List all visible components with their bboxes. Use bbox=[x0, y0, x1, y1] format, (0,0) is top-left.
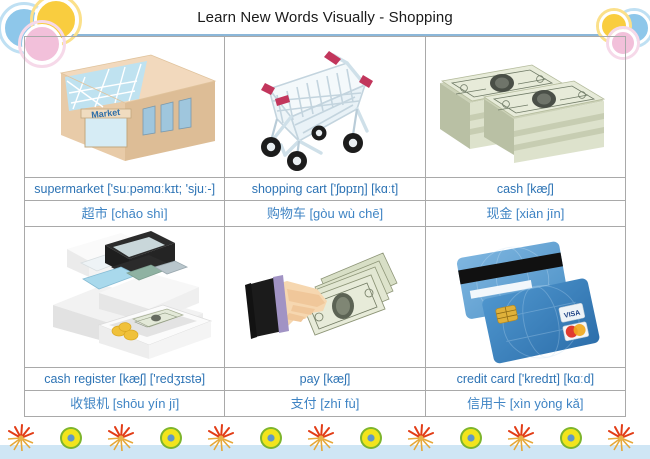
daisy-flower-icon bbox=[256, 424, 286, 452]
starburst-flower-icon bbox=[506, 424, 536, 452]
card-pinyin-cell: 收银机 [shōu yín jī] bbox=[25, 391, 225, 417]
page-header: Learn New Words Visually - Shopping bbox=[0, 0, 650, 36]
word-label: supermarket ['suːpəmɑːkɪt; 'sjuː-] bbox=[25, 179, 224, 199]
card-image-cell-cash[interactable] bbox=[425, 37, 625, 178]
starburst-flower-icon bbox=[606, 424, 636, 452]
hand-paying-cash-icon bbox=[225, 227, 424, 367]
daisy-flower-icon bbox=[356, 424, 386, 452]
pinyin-label: 现金 [xiàn jīn] bbox=[426, 203, 625, 225]
starburst-flower-icon bbox=[306, 424, 336, 452]
card-word-cell: cash register [kæʃ] ['redʒɪstə] bbox=[25, 368, 225, 391]
card-word-cell: shopping cart ['ʃɒpɪŋ] [kɑːt] bbox=[225, 178, 425, 201]
card-pinyin-cell: 超市 [chāo shì] bbox=[25, 201, 225, 227]
word-label: pay [kæʃ] bbox=[225, 369, 424, 389]
pinyin-label: 信用卡 [xìn yòng kǎ] bbox=[426, 393, 625, 415]
pinyin-label: 超市 [chāo shì] bbox=[25, 203, 224, 225]
page-title: Learn New Words Visually - Shopping bbox=[0, 9, 650, 26]
starburst-flower-icon bbox=[406, 424, 436, 452]
worksheet-page: Learn New Words Visually - Shopping bbox=[0, 0, 650, 459]
card-pinyin-cell: 现金 [xiàn jīn] bbox=[425, 201, 625, 227]
starburst-flower-icon bbox=[6, 424, 36, 452]
card-word-cell: credit card ['kredɪt] [kɑːd] bbox=[425, 368, 625, 391]
card-image-cell-pay[interactable] bbox=[225, 227, 425, 368]
pinyin-label: 支付 [zhī fù] bbox=[225, 393, 424, 415]
word-label: credit card ['kredɪt] [kɑːd] bbox=[426, 369, 625, 389]
credit-cards-icon: VISA bbox=[426, 227, 625, 367]
starburst-flower-icon bbox=[206, 424, 236, 452]
table-row: cash register [kæʃ] ['redʒɪstə] pay [kæʃ… bbox=[25, 368, 626, 391]
shopping-cart-icon bbox=[225, 37, 424, 177]
card-image-cell-shopping-cart[interactable] bbox=[225, 37, 425, 178]
supermarket-building-icon: Market bbox=[25, 37, 224, 177]
decorative-footer-band bbox=[0, 422, 650, 459]
daisy-flower-icon bbox=[156, 424, 186, 452]
daisy-flower-icon bbox=[456, 424, 486, 452]
card-pinyin-cell: 购物车 [gòu wù chē] bbox=[225, 201, 425, 227]
card-image-cell-credit-card[interactable]: VISA bbox=[425, 227, 625, 368]
table-row: supermarket ['suːpəmɑːkɪt; 'sjuː-] shopp… bbox=[25, 178, 626, 201]
card-image-cell-cash-register[interactable] bbox=[25, 227, 225, 368]
pinyin-label: 收银机 [shōu yín jī] bbox=[25, 393, 224, 415]
card-pinyin-cell: 信用卡 [xìn yòng kǎ] bbox=[425, 391, 625, 417]
card-pinyin-cell: 支付 [zhī fù] bbox=[225, 391, 425, 417]
card-image-cell-supermarket[interactable]: Market bbox=[25, 37, 225, 178]
word-label: shopping cart ['ʃɒpɪŋ] [kɑːt] bbox=[225, 179, 424, 199]
table-row: VISA bbox=[25, 227, 626, 368]
card-word-cell: pay [kæʃ] bbox=[225, 368, 425, 391]
vocabulary-grid: Market bbox=[24, 36, 626, 417]
word-label: cash [kæʃ] bbox=[426, 179, 625, 199]
daisy-flower-icon bbox=[556, 424, 586, 452]
card-word-cell: cash [kæʃ] bbox=[425, 178, 625, 201]
word-label: cash register [kæʃ] ['redʒɪstə] bbox=[25, 369, 224, 389]
table-row: Market bbox=[25, 37, 626, 178]
daisy-flower-icon bbox=[56, 424, 86, 452]
cash-register-icon bbox=[25, 227, 224, 367]
cash-stack-icon bbox=[426, 37, 625, 177]
pinyin-label: 购物车 [gòu wù chē] bbox=[225, 203, 424, 225]
table-row: 超市 [chāo shì] 购物车 [gòu wù chē] 现金 [xiàn … bbox=[25, 201, 626, 227]
table-row: 收银机 [shōu yín jī] 支付 [zhī fù] 信用卡 [xìn y… bbox=[25, 391, 626, 417]
starburst-flower-icon bbox=[106, 424, 136, 452]
card-word-cell: supermarket ['suːpəmɑːkɪt; 'sjuː-] bbox=[25, 178, 225, 201]
